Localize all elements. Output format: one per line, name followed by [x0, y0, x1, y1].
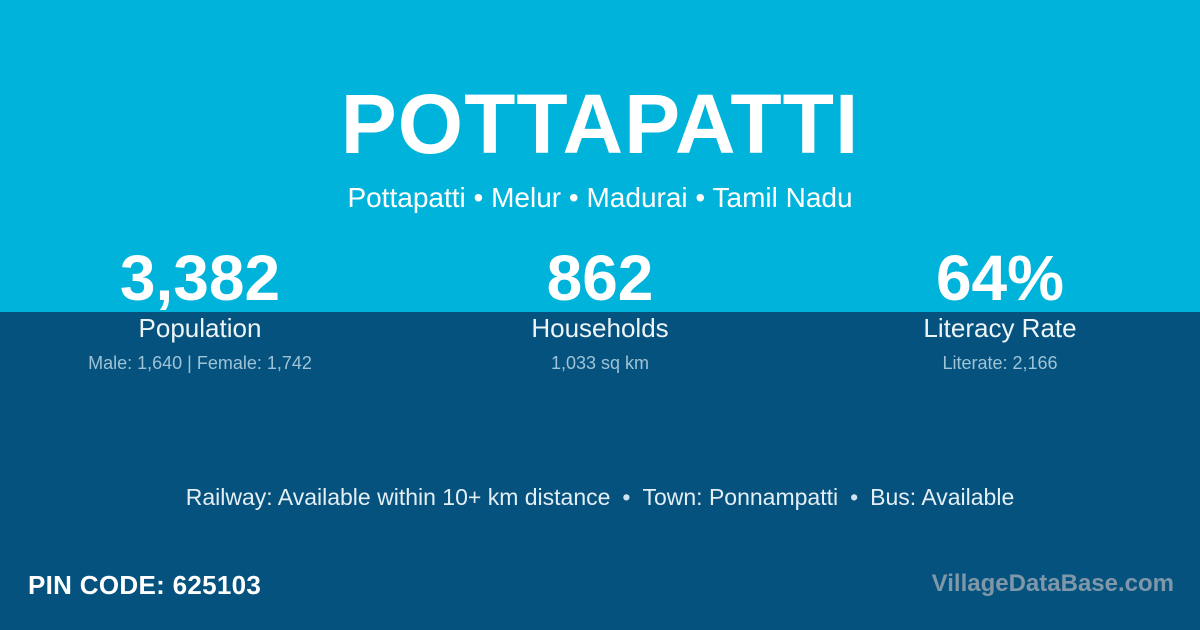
amenity-bus: Bus: Available	[870, 484, 1014, 510]
amenity-separator-2: •	[838, 484, 870, 512]
stat-households-label: Households	[400, 314, 800, 344]
amenity-separator-1: •	[610, 484, 642, 512]
amenity-town: Town: Ponnampatti	[642, 484, 838, 510]
stat-population-label: Population	[0, 314, 400, 344]
stat-population: 3,382 Population Male: 1,640 | Female: 1…	[0, 246, 400, 374]
stat-literacy-rate-value: 64%	[800, 246, 1200, 308]
amenities-line: Railway: Available within 10+ km distanc…	[0, 484, 1200, 512]
stat-households: 862 Households 1,033 sq km	[400, 246, 800, 374]
stat-population-value: 3,382	[0, 246, 400, 308]
breadcrumb: Pottapatti • Melur • Madurai • Tamil Nad…	[0, 183, 1200, 214]
stats-row: 3,382 Population Male: 1,640 | Female: 1…	[0, 246, 1200, 374]
stat-literacy-rate-label: Literacy Rate	[800, 314, 1200, 344]
stat-households-value: 862	[400, 246, 800, 308]
card-footer: PIN CODE: 625103 VillageDataBase.com	[0, 558, 1200, 630]
amenity-railway: Railway: Available within 10+ km distanc…	[186, 484, 611, 510]
site-watermark: VillageDataBase.com	[932, 572, 1174, 596]
stat-population-sub: Male: 1,640 | Female: 1,742	[0, 353, 400, 374]
village-info-card: POTTAPATTI Pottapatti • Melur • Madurai …	[0, 0, 1200, 630]
pin-code: PIN CODE: 625103	[28, 572, 261, 598]
stat-literacy-rate: 64% Literacy Rate Literate: 2,166	[800, 246, 1200, 374]
stat-literacy-rate-sub: Literate: 2,166	[800, 353, 1200, 374]
page-title: POTTAPATTI	[0, 82, 1200, 166]
stat-households-sub: 1,033 sq km	[400, 353, 800, 374]
